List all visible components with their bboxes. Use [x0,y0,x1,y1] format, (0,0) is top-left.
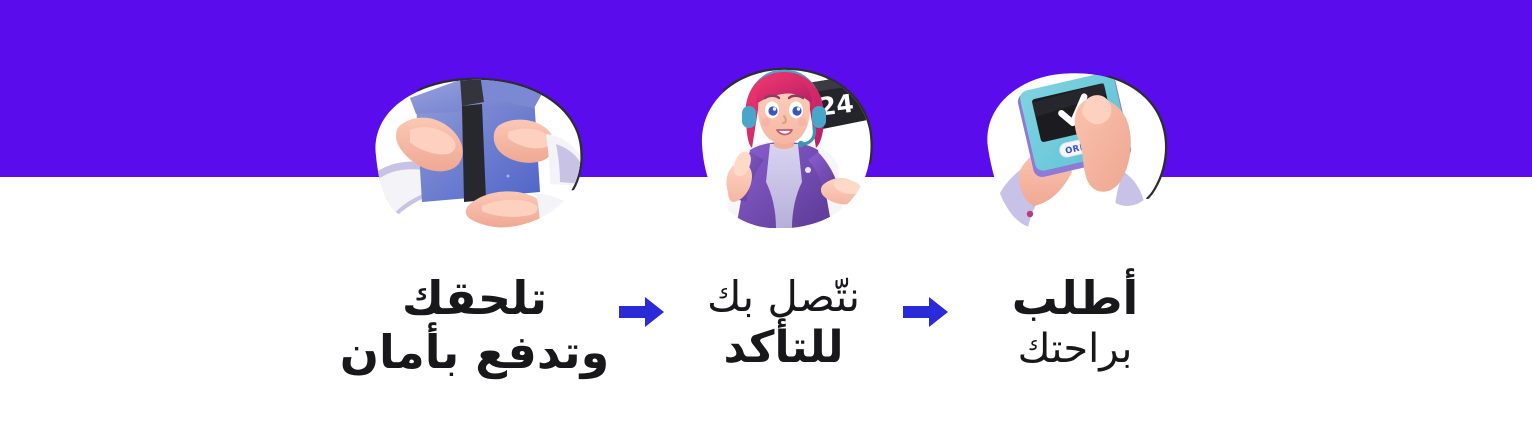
illustration-gift-box-handoff [350,52,600,247]
step-arrow-2-icon [619,295,665,329]
step-caption-line-1: نتّصل بك [707,275,860,319]
step-caption-line-2: وتدفع بأمان [340,329,610,377]
step-caption: نتّصل بك للتأكد [707,275,860,370]
arrow-cell-2 [600,0,684,433]
illustration-support-agent: 24 [684,52,884,247]
step-caption: تلحقك وتدفع بأمان [340,275,610,377]
step-confirm[interactable]: 24 [684,0,884,370]
step-delivery[interactable]: تلحقك وتدفع بأمان [350,0,600,377]
step-order[interactable]: ORDER أطلب براحتك [968,0,1183,370]
step-arrow-1-icon [903,295,949,329]
step-caption-line-1: تلحقك [340,275,610,323]
how-it-works-banner: ORDER أطلب براحتك [0,0,1532,433]
step-caption-line-2: للتأكد [707,325,860,371]
step-caption-line-1: أطلب [1012,275,1139,323]
step-caption-line-2: براحتك [1012,329,1139,371]
arrow-cell-1 [884,0,968,433]
step-caption: أطلب براحتك [1012,275,1139,370]
illustration-hands-holding-tablet: ORDER [968,52,1183,247]
